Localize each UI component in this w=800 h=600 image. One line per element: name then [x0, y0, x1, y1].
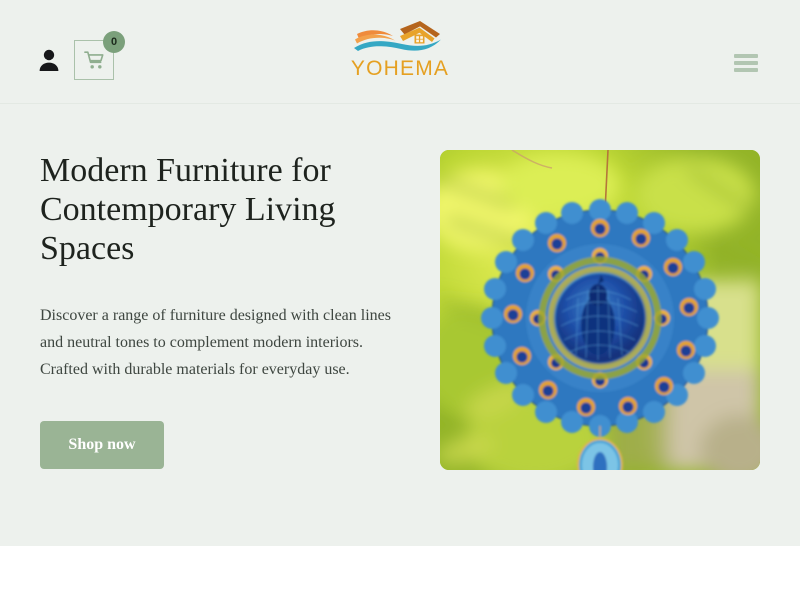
logo-wordmark: YOHEMA	[351, 57, 449, 81]
header-left-actions: 0	[38, 40, 114, 80]
hero-title: Modern Furniture for Contemporary Living…	[40, 151, 370, 268]
hero-section: Modern Furniture for Contemporary Living…	[0, 104, 800, 546]
house-roof-logo-icon	[348, 18, 452, 58]
menu-bar-3	[734, 68, 758, 72]
menu-bar-1	[734, 54, 758, 58]
user-icon	[38, 48, 60, 72]
account-button[interactable]	[38, 48, 60, 72]
menu-bar-2	[734, 61, 758, 65]
peacock-wind-spinner-photo	[440, 150, 760, 470]
hamburger-menu-icon[interactable]	[734, 52, 760, 74]
cart-button[interactable]: 0	[74, 40, 114, 80]
hero-copy: Modern Furniture for Contemporary Living…	[40, 151, 410, 469]
hero-image	[440, 150, 760, 470]
hero-subtitle: Discover a range of furniture designed w…	[40, 302, 400, 383]
site-logo[interactable]: YOHEMA	[348, 18, 452, 81]
cart-count-badge: 0	[103, 31, 125, 53]
shopping-cart-icon	[84, 50, 104, 70]
shop-now-button[interactable]: Shop now	[40, 421, 164, 469]
site-header: 0 YOHEMA	[0, 0, 800, 104]
page-root: 0 YOHEMA	[0, 0, 800, 600]
